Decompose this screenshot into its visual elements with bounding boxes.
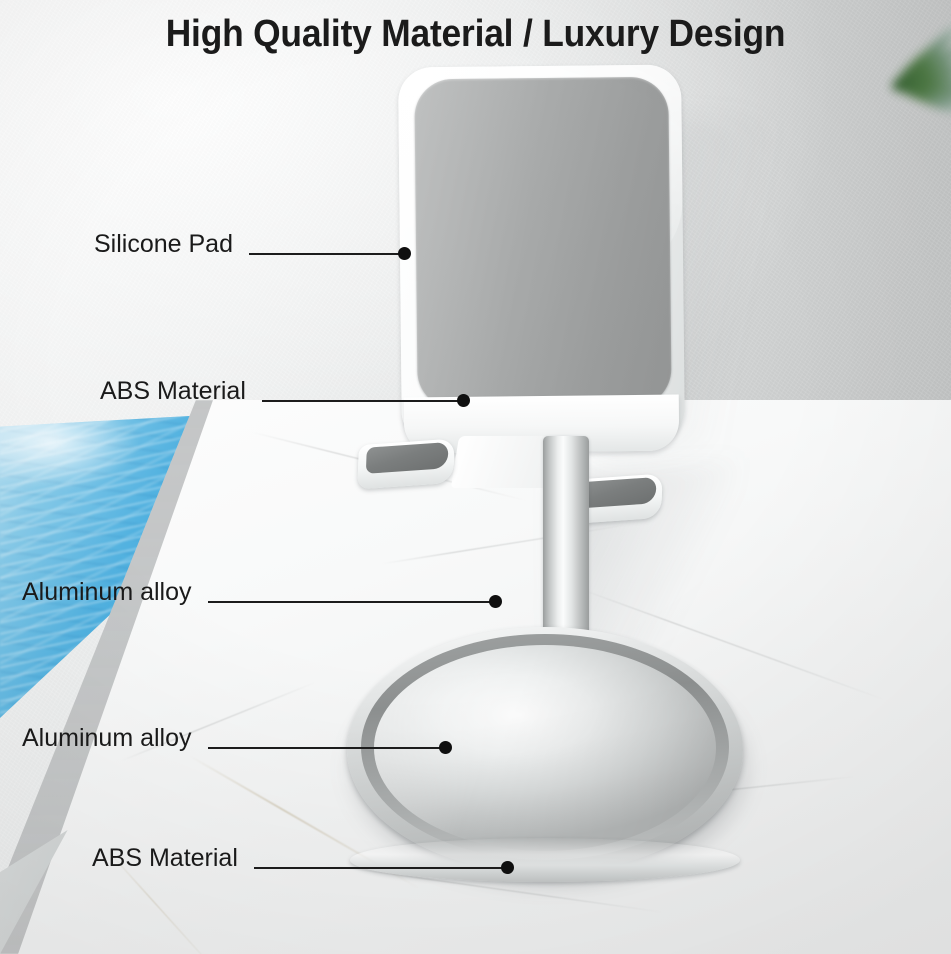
- leader-line: [208, 747, 440, 749]
- callout-abs-material-head: ABS Material: [100, 379, 470, 404]
- leader-line: [262, 400, 458, 402]
- leader-dot: [501, 861, 514, 874]
- callout-aluminum-alloy-pole: Aluminum alloy: [22, 580, 502, 605]
- callout-label: Aluminum alloy: [22, 580, 192, 605]
- callout-abs-material-base: ABS Material: [92, 846, 514, 871]
- leader-dot: [439, 741, 452, 754]
- scene-vignette: [0, 0, 951, 954]
- callout-label: ABS Material: [100, 379, 246, 404]
- leader-line: [249, 253, 399, 255]
- leader-dot: [457, 394, 470, 407]
- leader-line: [254, 867, 502, 869]
- callout-label: ABS Material: [92, 846, 238, 871]
- page-title: High Quality Material / Luxury Design: [33, 13, 917, 56]
- callout-label: Aluminum alloy: [22, 726, 192, 751]
- leader-dot: [489, 595, 502, 608]
- leader-dot: [398, 247, 411, 260]
- infographic-scene: High Quality Material / Luxury Design Si…: [0, 0, 951, 954]
- callout-silicone-pad: Silicone Pad: [94, 232, 411, 257]
- callout-aluminum-alloy-base: Aluminum alloy: [22, 726, 452, 751]
- callout-label: Silicone Pad: [94, 232, 233, 257]
- leader-line: [208, 601, 490, 603]
